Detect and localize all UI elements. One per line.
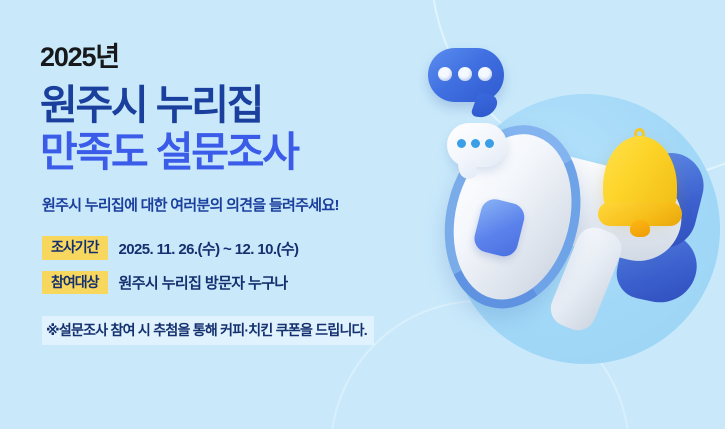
speech-bubble-dots [457,139,494,148]
bell-clapper [630,220,650,237]
speech-bubble-dots [438,67,492,81]
badge-survey-period: 조사기간 [42,236,108,259]
value-survey-period: 2025. 11. 26.(수) ~ 12. 10.(수) [119,238,299,259]
page-title-line-2: 만족도 설문조사 [40,129,440,176]
value-participants: 원주시 누리집 방문자 누구나 [119,272,288,293]
banner-subtitle: 원주시 누리집에 대한 여러분의 의견을 들려주세요! [42,194,440,215]
info-row-survey-period: 조사기간 2025. 11. 26.(수) ~ 12. 10.(수) [42,236,440,259]
banner-footnote: ※설문조사 참여 시 추첨을 통해 커피·치킨 쿠폰을 드립니다. [42,316,374,345]
survey-info-list: 조사기간 2025. 11. 26.(수) ~ 12. 10.(수) 참여대상 … [42,236,440,293]
page-title-line-1: 원주시 누리집 [40,82,440,129]
badge-participants: 참여대상 [42,271,108,294]
info-row-participants: 참여대상 원주시 누리집 방문자 누구나 [42,271,440,294]
survey-promo-banner: 2025년 원주시 누리집 만족도 설문조사 원주시 누리집에 대한 여러분의 … [0,0,725,429]
speech-bubble-white-icon [447,123,507,167]
bell-icon [597,128,683,240]
banner-text-content: 2025년 원주시 누리집 만족도 설문조사 원주시 누리집에 대한 여러분의 … [0,0,440,429]
banner-year: 2025년 [40,44,440,71]
